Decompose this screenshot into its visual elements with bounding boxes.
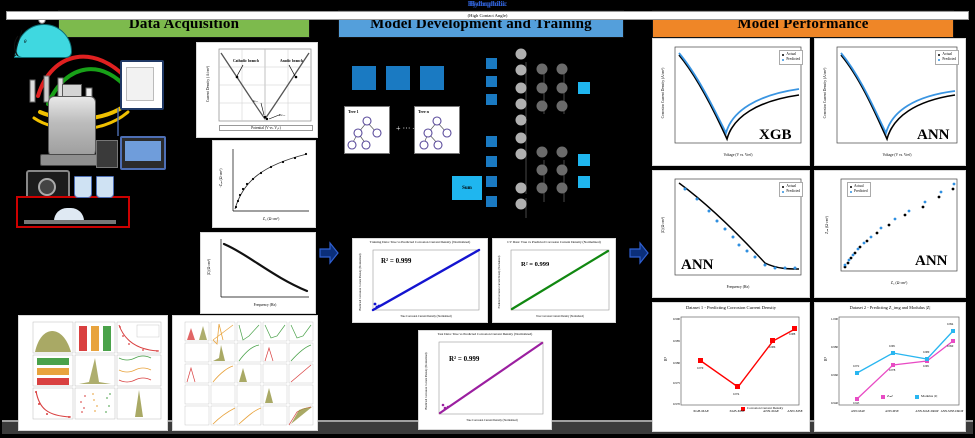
flask-icon-1 — [74, 176, 92, 198]
dataset2-category-1: ANN-MSE — [877, 409, 907, 413]
stage-bar-icon — [24, 220, 116, 224]
tafel-cathodic-label: Cathodic branch — [233, 59, 259, 63]
dataset1-category-3: ANN-MSE — [779, 409, 810, 413]
performance-plot-xgb-tafel: Actual Predicted XGB Corrosion Current D… — [652, 38, 810, 166]
dataset1-ytick-0: 0.970 — [655, 402, 680, 406]
ann-bode-y-label: |Z| (Ω·cm²) — [661, 195, 665, 255]
dataset1-ytick-3: 0.985 — [655, 339, 680, 343]
dataset2-modulus-value-3: 0.994 — [947, 323, 953, 326]
dataset2-y-label: R² — [823, 349, 828, 369]
graphical-abstract: Data Acquisition Model Development and T… — [0, 0, 975, 438]
parity-plot-training: Training Data: True vs Predicted Corrosi… — [352, 238, 488, 323]
hydrophobic-theta-label: θ — [24, 40, 26, 45]
model-tag-ann-tafel: ANN — [917, 127, 950, 144]
pairplot-matrix-5x5 — [172, 315, 318, 431]
dataset2-ytick-3: 1.000 — [815, 317, 838, 321]
legend-predicted-label: Predicted — [854, 189, 868, 194]
dataset2-modulus-value-2: 0.980 — [923, 351, 929, 354]
model-tag-ann-bode: ANN — [681, 257, 714, 274]
dataset2-legend-zimg: Zᵢₘᵍ — [887, 394, 893, 398]
flask-icon-2 — [96, 176, 114, 198]
dataset1-value-0: 0.979 — [697, 367, 703, 370]
parity-plot-test: Test Data: True vs Predicted Corrosion C… — [418, 330, 552, 430]
hydrophobic-subtitle: (High Contact Angle) — [6, 11, 969, 20]
performance-chart-dataset1: Dataset 1 - Predicting Corrosion Current… — [652, 302, 810, 432]
dataset1-value-3: 0.988 — [789, 333, 795, 336]
decision-tree-n: Tree n — [414, 106, 460, 154]
parity-plot-training-x-label: True Corrosion Current Density (Normaliz… — [371, 315, 481, 318]
tafel-plot-mini: Cathodic branch Anodic branch iᴄₒᵣᵣ Eᴄₒᵣ… — [196, 42, 318, 138]
dataset1-ytick-4: 0.990 — [655, 317, 680, 321]
tafel-y-axis-label: Current Density ( A/cm²) — [206, 49, 210, 119]
parity-plot-cv-x-label: True Corrosion Current Density (Normaliz… — [509, 315, 611, 318]
parity-plot-test-title: Test Data: True vs Predicted Corrosion C… — [419, 331, 551, 336]
dataset2-zimg-value-0: 0.945 — [853, 402, 859, 405]
tafel-x-axis-label: Potential (V vs. Vₒₖ) — [219, 125, 313, 131]
model-tag-xgb: XGB — [759, 127, 792, 144]
potentiostat-icon — [120, 60, 164, 110]
xgb-tafel-x-label: Voltage (V vs. Vref) — [675, 153, 801, 157]
dataset2-zimg-value-3: 0.990 — [947, 345, 953, 348]
arrow-data-to-model — [318, 240, 340, 273]
hydrophobic-title: Hydrophobic — [0, 0, 975, 8]
performance-plot-ann-bode: Actual Predicted ANN |Z| (Ω·cm²) Frequen… — [652, 170, 810, 298]
parity-plot-training-title: Training Data: True vs Predicted Corrosi… — [353, 239, 487, 244]
electrochemical-cell-icon — [48, 96, 96, 160]
parity-plot-cv-title: CV Data: True vs Predicted Corrosion Cur… — [493, 239, 615, 244]
ann-nyquist-y-label: Zᵢₘ (Ω·cm²) — [825, 195, 829, 255]
dataset2-zimg-value-2: 0.981 — [923, 365, 929, 368]
legend-predicted-label: Predicted — [786, 57, 800, 62]
dataset2-ytick-1: 0.960 — [815, 373, 838, 377]
legend-ann-bode: Actual Predicted — [779, 182, 803, 197]
arrow-model-to-performance — [628, 240, 650, 273]
ann-tafel-x-label: Voltage (V vs. Vref) — [837, 153, 957, 157]
dataset2-legend-modulus: Modulus |Z| — [921, 394, 937, 398]
dataset1-ytick-2: 0.980 — [655, 361, 680, 365]
performance-plot-ann-nyquist: Actual Predicted ANN Zᵢₘ (Ω·cm²) Zᵣₑ (Ω·… — [814, 170, 966, 298]
tafel-icorr-label: iᴄₒᵣᵣ — [253, 99, 258, 103]
dataset2-category-3: ANN-MSE-DROP — [935, 409, 966, 413]
model-tag-ann-nyquist: ANN — [915, 253, 948, 270]
dataset2-ytick-2: 0.980 — [815, 345, 838, 349]
decision-tree-1: Tree 1 — [344, 106, 390, 154]
dataset2-category-0: ANN-MAE — [843, 409, 873, 413]
contact-angle-stage-illustration — [16, 196, 130, 228]
nyquist-plot-mini: -Zᵢₘ (Ω·cm²) Zᵣₑ (Ω·cm²) — [212, 140, 316, 228]
bode-plot-mini: |Z| (Ω·cm²) Frequency (Hz) — [200, 232, 316, 314]
dataset1-value-1: 0.974 — [733, 393, 739, 396]
dataset1-value-2: 0.986 — [769, 346, 775, 349]
legend-predicted-label: Predicted — [942, 57, 956, 62]
ann-tafel-y-label: Corrosion Current Density (A/cm²) — [823, 47, 827, 139]
neural-network-diagram — [486, 44, 626, 234]
dataset1-category-0: XGB-MAE — [685, 409, 717, 413]
legend-ann-tafel: Actual Predicted — [935, 50, 959, 65]
nyquist-mini-y-label: -Zᵢₘ (Ω·cm²) — [219, 149, 223, 207]
cell-base-icon — [40, 154, 104, 166]
dataset1-y-label: R² — [663, 349, 668, 369]
dataset1-category-1: XGB-MSE — [721, 409, 753, 413]
feature-block-2 — [386, 66, 410, 90]
ann-nyquist-x-label: Zᵣₑ (Ω·cm²) — [841, 281, 957, 285]
boosting-sum-node: Sum — [452, 176, 482, 200]
performance-chart-dataset2: Dataset 2 - Predicting Z_img and Modulus… — [814, 302, 966, 432]
computer-tower-icon — [96, 140, 118, 168]
nyquist-mini-x-label: Zᵣₑ (Ω·cm²) — [233, 217, 309, 221]
dataset2-modulus-value-0: 0.972 — [853, 365, 859, 368]
tafel-ecorr-label: Eᴄₒᵣᵣ — [279, 113, 285, 117]
feature-block-1 — [352, 66, 376, 90]
bode-mini-y-label: |Z| (Ω·cm²) — [207, 243, 211, 291]
parity-plot-cv-r2: R² = 0.999 — [521, 261, 549, 268]
pairplot-matrix-3x3 — [18, 315, 168, 431]
bode-mini-x-label: Frequency (Hz) — [221, 303, 309, 307]
legend-predicted-label: Predicted — [786, 189, 800, 194]
monitor-icon — [120, 136, 166, 170]
parity-plot-cv: CV Data: True vs Predicted Corrosion Cur… — [492, 238, 616, 323]
legend-ann-nyquist: Actual Predicted — [847, 182, 871, 197]
xgb-tafel-y-label: Corrosion Current Density (A/cm²) — [661, 47, 665, 139]
parity-plot-training-y-label: Predicted Corrosion Current Density (Nor… — [359, 251, 362, 313]
ann-bode-x-label: Frequency (Hz) — [675, 285, 801, 289]
feature-block-3 — [420, 66, 444, 90]
dataset2-modulus-value-1: 0.981 — [889, 345, 895, 348]
parity-plot-cv-y-label: Predicted Corrosion Current Density (Nor… — [498, 251, 501, 313]
tafel-anodic-label: Anodic branch — [280, 59, 303, 63]
parity-plot-test-y-label: Predicted Corrosion Current Density (Nor… — [425, 345, 428, 417]
parity-plot-training-r2: R² = 0.999 — [381, 257, 411, 265]
parity-plot-test-r2: R² = 0.999 — [449, 355, 479, 363]
parity-plot-test-x-label: True Corrosion Current Density (Normaliz… — [437, 419, 547, 422]
dataset1-ytick-1: 0.975 — [655, 381, 680, 385]
dataset2-ytick-0: 0.940 — [815, 401, 838, 405]
dataset2-zimg-value-1: 0.978 — [889, 369, 895, 372]
legend-xgb-tafel: Actual Predicted — [779, 50, 803, 65]
performance-plot-ann-tafel: Actual Predicted ANN Corrosion Current D… — [814, 38, 966, 166]
